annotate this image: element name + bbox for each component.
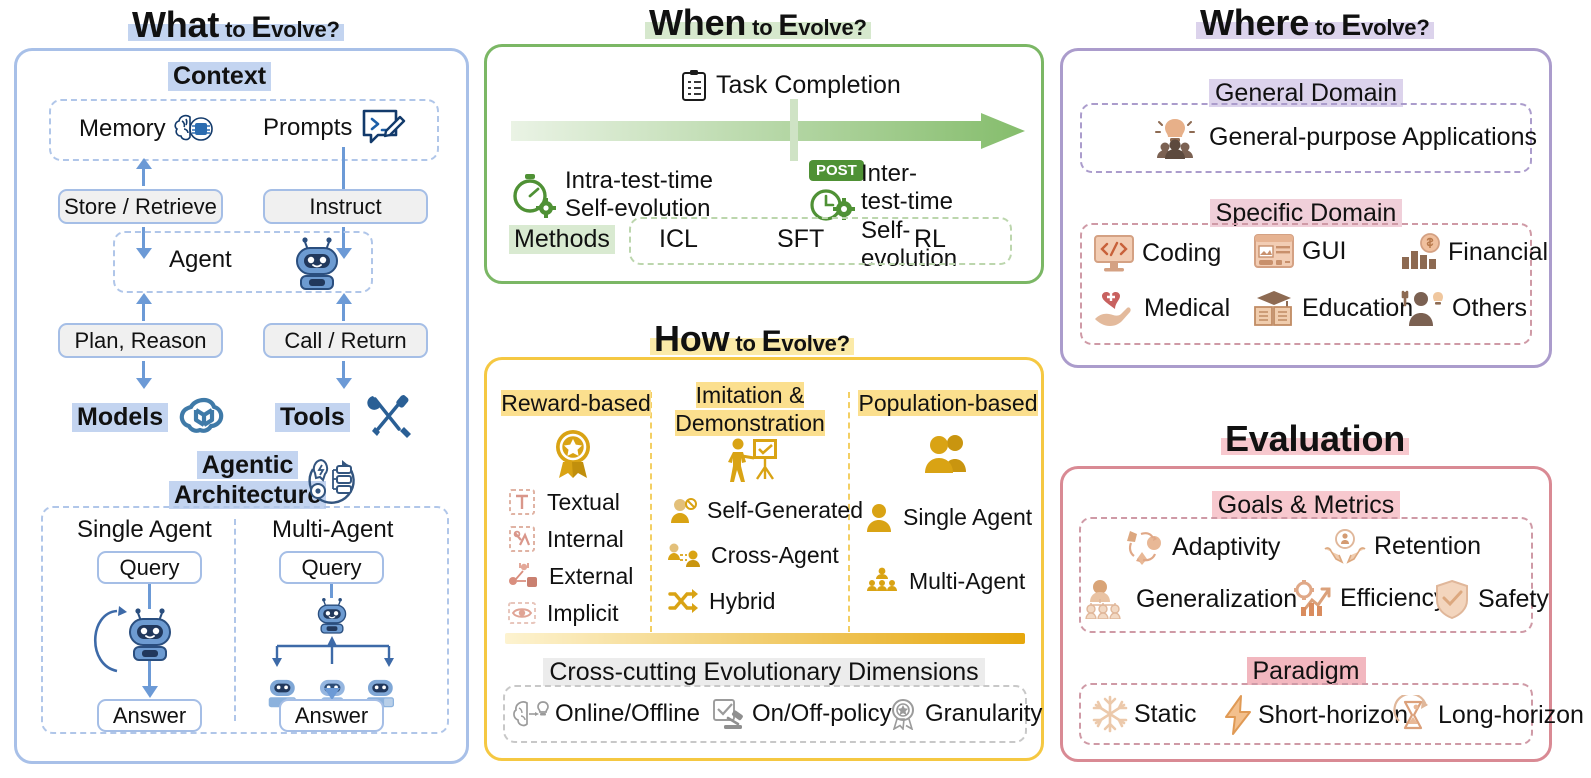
generalization-tree-icon xyxy=(1085,579,1129,619)
efficiency-growth-icon xyxy=(1291,579,1333,617)
brain-chip-icon xyxy=(172,109,214,149)
context-item-memory: Memory xyxy=(79,109,214,149)
lightbulb-people-icon xyxy=(1153,115,1197,159)
specific-domain-item-label: GUI xyxy=(1302,237,1346,266)
how-column-imitation-header: Imitation & Demonstration xyxy=(659,382,841,437)
agentic-architecture-line1: Agentic xyxy=(197,451,299,479)
how-item-label: Internal xyxy=(547,526,624,553)
retention-hands-icon xyxy=(1323,527,1367,565)
tools-wrench-screwdriver-icon xyxy=(362,391,416,443)
context-item-prompts: Prompts xyxy=(263,107,406,149)
hybrid-shuffle-icon xyxy=(667,587,699,615)
how-title-to: to xyxy=(735,331,755,356)
specific-domain-item-label: Medical xyxy=(1144,294,1230,323)
evaluation-panel-title: Evaluation xyxy=(1221,418,1409,460)
medical-heart-hand-icon xyxy=(1093,289,1137,327)
external-network-icon xyxy=(507,561,539,591)
snowflake-icon xyxy=(1091,695,1129,733)
adaptivity-shapes-icon xyxy=(1121,527,1165,567)
single-agent-title-row: Single Agent xyxy=(77,516,212,544)
what-panel-title: What to Evolve? xyxy=(128,4,344,46)
what-title-to: to xyxy=(225,17,245,42)
where-title-rest: volve? xyxy=(1361,15,1430,40)
paradigm-item-static[interactable]: Static xyxy=(1091,695,1197,733)
how-column-imitation-title-line1: Imitation & xyxy=(696,382,805,408)
how-item-label: Cross-Agent xyxy=(711,542,839,569)
how-item-label: Implicit xyxy=(547,600,619,627)
what-to-evolve-panel: Context Memory Prompts xyxy=(14,48,469,764)
arrow-agent-up-right-head xyxy=(335,293,353,305)
task-completion-row: Task Completion xyxy=(680,69,901,101)
self-generated-agent-icon xyxy=(667,495,697,525)
how-item-label: Multi-Agent xyxy=(909,568,1025,595)
how-item-label: External xyxy=(549,563,633,590)
how-column-population-header: Population-based xyxy=(855,390,1041,417)
agent-label: Agent xyxy=(169,246,232,274)
goal-item-adaptivity[interactable]: Adaptivity xyxy=(1121,527,1280,567)
paradigm-item-label: Short-horizon xyxy=(1258,701,1408,730)
models-row: Models xyxy=(72,391,230,443)
context-item-prompts-label: Prompts xyxy=(263,114,352,142)
goal-item-generalization[interactable]: Generalization xyxy=(1085,579,1297,619)
where-title-to: to xyxy=(1315,15,1335,40)
how-item-textual[interactable]: Textual xyxy=(507,487,620,517)
goal-item-label: Efficiency xyxy=(1340,584,1447,613)
crosscutting-item-label: On/Off-policy xyxy=(752,700,892,728)
call-return-box[interactable]: Call / Return xyxy=(263,323,428,358)
goal-item-label: Generalization xyxy=(1136,585,1297,614)
paradigm-item-label: Long-horizon xyxy=(1438,701,1584,730)
specific-domain-item-medical[interactable]: Medical xyxy=(1093,289,1230,327)
cross-agent-icon xyxy=(667,541,701,569)
plan-reason-box[interactable]: Plan, Reason xyxy=(58,323,223,358)
how-item-hybrid[interactable]: Hybrid xyxy=(667,587,775,615)
others-people-tools-icon xyxy=(1399,289,1445,327)
implicit-eye-icon xyxy=(507,598,537,628)
financial-chart-icon xyxy=(1399,233,1441,271)
people-group-icon xyxy=(922,432,972,474)
how-item-label: Single Agent xyxy=(903,504,1032,531)
crosscutting-title: Cross-cutting Evolutionary Dimensions xyxy=(543,658,984,686)
store-retrieve-box[interactable]: Store / Retrieve xyxy=(58,189,223,224)
how-item-internal[interactable]: Internal xyxy=(507,524,624,554)
internal-checkmark-icon xyxy=(507,524,537,554)
methods-label: Methods xyxy=(509,225,615,254)
specific-domain-item-financial[interactable]: Financial xyxy=(1399,233,1548,271)
paradigm-label-wrap: Paradigm xyxy=(1063,657,1549,686)
where-title-cap: E xyxy=(1341,9,1361,42)
goal-item-label: Retention xyxy=(1374,532,1481,561)
timeline-midpoint-marker xyxy=(790,99,798,161)
how-item-single-agent[interactable]: Single Agent xyxy=(865,502,1032,532)
self-loop-arrow-icon xyxy=(73,599,137,684)
multi-agent-query-box[interactable]: Query xyxy=(279,551,384,584)
crosscutting-item-granularity[interactable]: Granularity xyxy=(887,698,1042,730)
goals-metrics-label: Goals & Metrics xyxy=(1212,491,1400,519)
where-panel-title: Where to Evolve? xyxy=(1196,2,1434,44)
how-column-population-title: Population-based xyxy=(858,390,1037,416)
agentic-architecture-divider xyxy=(234,519,236,721)
granularity-medal-icon xyxy=(887,698,919,730)
goal-item-retention[interactable]: Retention xyxy=(1323,527,1481,565)
when-title-cap: E xyxy=(778,9,798,42)
crosscutting-title-wrap: Cross-cutting Evolutionary Dimensions xyxy=(487,658,1041,687)
how-panel-title: How to Evolve? xyxy=(650,318,854,360)
models-label: Models xyxy=(72,403,168,432)
general-purpose-applications-item[interactable]: General-purpose Applications xyxy=(1153,115,1537,159)
task-completion-label: Task Completion xyxy=(716,71,901,100)
tools-row: Tools xyxy=(275,391,416,443)
code-monitor-icon xyxy=(1093,233,1135,273)
arrow-models-down-head xyxy=(135,377,153,389)
crosscutting-item-online-offline[interactable]: Online/Offline xyxy=(511,698,700,730)
intra-test-time-line1: Intra-test-time xyxy=(565,167,713,195)
evolution-timeline-arrow xyxy=(511,113,1025,159)
how-item-multi-agent[interactable]: Multi-Agent xyxy=(865,567,1025,595)
instruct-box[interactable]: Instruct xyxy=(263,189,428,224)
how-item-label: Self-Generated xyxy=(707,497,863,524)
goal-item-safety[interactable]: Safety xyxy=(1433,579,1549,619)
what-title-rest: volve? xyxy=(271,17,340,42)
how-item-self-generated[interactable]: Self-Generated xyxy=(667,495,863,525)
when-title-big: When xyxy=(649,2,746,43)
robot-icon xyxy=(289,232,345,290)
single-agent-answer-arrow-head xyxy=(141,685,159,698)
education-book-cap-icon xyxy=(1253,289,1295,327)
how-gradient-bar xyxy=(505,633,1025,645)
paradigm-item-label: Static xyxy=(1134,700,1197,729)
crosscutting-item-label: Online/Offline xyxy=(555,700,700,728)
single-agent-title: Single Agent xyxy=(77,516,212,544)
paradigm-label: Paradigm xyxy=(1247,657,1366,685)
multi-person-hierarchy-icon xyxy=(865,567,899,595)
arrow-prompts-down-shaft xyxy=(342,147,345,189)
evaluation-panel: Goals & Metrics AdaptivityRetentionGener… xyxy=(1060,466,1552,762)
hourglass-cycle-icon xyxy=(1393,695,1433,735)
single-person-icon xyxy=(865,502,893,532)
award-ribbon-icon xyxy=(548,426,598,480)
crosscutting-item-on-off-policy[interactable]: On/Off-policy xyxy=(712,698,892,730)
specific-domain-item-coding[interactable]: Coding xyxy=(1093,233,1221,273)
arrow-agent-up-left-head xyxy=(135,293,153,305)
goal-item-label: Safety xyxy=(1478,585,1549,614)
multi-agent-title: Multi-Agent xyxy=(272,516,393,544)
gui-window-icon xyxy=(1253,233,1295,269)
intra-test-time-row: Intra-test-time Self-evolution xyxy=(511,167,713,224)
multi-agent-answer-box[interactable]: Answer xyxy=(279,699,384,732)
evaluation-title: Evaluation xyxy=(1225,418,1405,459)
what-title-big: What xyxy=(132,4,219,45)
paradigm-item-short-horizon[interactable]: Short-horizon xyxy=(1223,695,1408,735)
teacher-whiteboard-icon xyxy=(725,436,779,484)
when-panel-title: When to Evolve? xyxy=(645,2,871,44)
agentic-architecture-icon xyxy=(301,451,357,507)
how-item-external[interactable]: External xyxy=(507,561,633,591)
single-agent-answer-box[interactable]: Answer xyxy=(97,699,202,732)
how-column-reward-header: Reward-based xyxy=(501,390,651,417)
how-item-cross-agent[interactable]: Cross-Agent xyxy=(667,541,839,569)
goal-item-label: Adaptivity xyxy=(1172,533,1280,562)
specific-domain-item-gui[interactable]: GUI xyxy=(1253,233,1346,269)
single-agent-query-box[interactable]: Query xyxy=(97,551,202,584)
how-item-label: Hybrid xyxy=(709,588,775,615)
specific-domain-item-education[interactable]: Education xyxy=(1253,289,1413,327)
specific-domain-item-label: Financial xyxy=(1448,238,1548,267)
agent-label-row: Agent xyxy=(169,246,232,274)
lightning-bolt-icon xyxy=(1223,695,1253,735)
arrow-tools-down-head xyxy=(335,377,353,389)
paradigm-item-long-horizon[interactable]: Long-horizon xyxy=(1393,695,1584,735)
post-badge: POST xyxy=(809,160,864,181)
method-icl[interactable]: ICL xyxy=(659,225,698,254)
tools-label: Tools xyxy=(275,403,350,432)
clipboard-checklist-icon xyxy=(680,69,708,101)
how-title-big: How xyxy=(654,318,729,359)
brain-idea-icon xyxy=(511,698,549,730)
openai-logo-icon xyxy=(178,391,230,443)
prompt-terminal-icon xyxy=(360,107,406,149)
how-column-imitation-title-line2: Demonstration xyxy=(675,410,825,436)
stopwatch-gear-icon xyxy=(511,171,557,219)
multi-agent-title-row: Multi-Agent xyxy=(272,516,393,544)
how-column-reward-title: Reward-based xyxy=(501,390,651,416)
what-title-cap: E xyxy=(251,11,271,44)
crosscutting-item-label: Granularity xyxy=(925,700,1042,728)
where-to-evolve-panel: General Domain General-purpose Applicati… xyxy=(1060,48,1552,368)
method-sft[interactable]: SFT xyxy=(777,225,824,254)
how-item-label: Textual xyxy=(547,489,620,516)
where-title-big: Where xyxy=(1200,2,1309,43)
how-title-cap: E xyxy=(762,325,782,358)
when-to-evolve-panel: Task Completion Intra-test-time Self-evo… xyxy=(484,44,1044,284)
how-to-evolve-panel: Reward-based TextualInternalExternalImpl… xyxy=(484,357,1044,761)
textual-T-icon xyxy=(507,487,537,517)
specific-domain-item-others[interactable]: Others xyxy=(1399,289,1527,327)
when-title-to: to xyxy=(752,15,772,40)
goal-item-efficiency[interactable]: Efficiency xyxy=(1291,579,1447,617)
when-title-rest: volve? xyxy=(798,15,867,40)
specific-domain-item-label: Education xyxy=(1302,294,1413,323)
context-label: Context xyxy=(168,62,271,91)
robot-icon xyxy=(313,594,351,634)
method-rl[interactable]: RL xyxy=(914,225,946,254)
specific-domain-item-label: Coding xyxy=(1142,239,1221,268)
goals-metrics-label-wrap: Goals & Metrics xyxy=(1063,491,1549,520)
arrow-memory-up-head xyxy=(135,158,153,170)
how-divider-1 xyxy=(650,392,652,632)
specific-domain-item-label: Others xyxy=(1452,294,1527,323)
policy-gavel-icon xyxy=(712,698,746,730)
how-title-rest: volve? xyxy=(781,331,850,356)
general-purpose-applications-label: General-purpose Applications xyxy=(1209,123,1537,152)
inter-test-time-line1: Inter-test-time xyxy=(861,160,957,217)
how-item-implicit[interactable]: Implicit xyxy=(507,598,619,628)
safety-shield-icon xyxy=(1433,579,1471,619)
context-item-memory-label: Memory xyxy=(79,115,166,143)
